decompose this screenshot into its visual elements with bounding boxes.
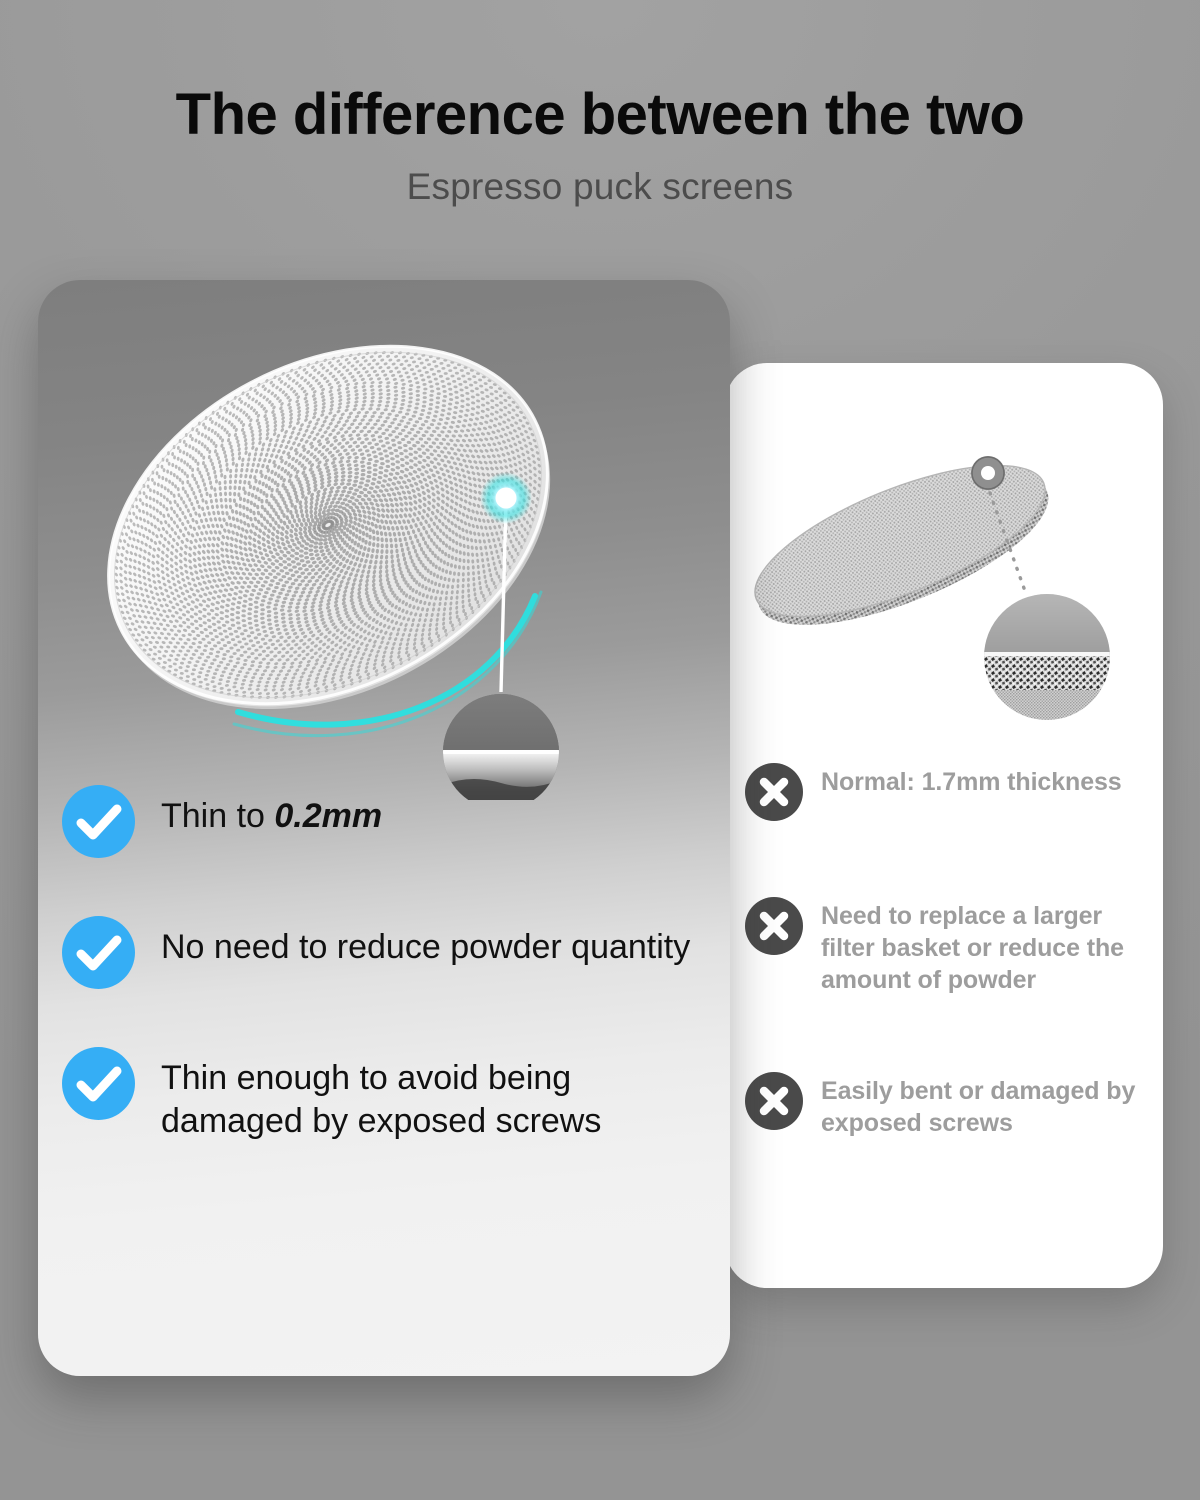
check-icon [62, 785, 135, 858]
list-item-label: No need to reduce powder quantity [161, 916, 690, 969]
cross-section-callout-thick [984, 594, 1110, 720]
glow-marker-dot [480, 472, 532, 524]
normal-feature-list: Normal: 1.7mm thickness Need to replace … [745, 763, 1163, 1215]
thin-thickness-value: 0.2mm [274, 797, 382, 835]
list-item-label: Easily bent or damaged by exposed screws [821, 1072, 1141, 1139]
page-header: The difference between the two Espresso … [0, 0, 1200, 208]
thin-thickness-prefix: Thin to [161, 797, 274, 835]
thin-feature-list: Thin to 0.2mm No need to reduce powder q… [62, 785, 730, 1201]
thin-screen-illustration [38, 280, 730, 800]
center-hole-marker [971, 456, 1005, 490]
thick-mesh-disc-svg [725, 363, 1163, 783]
cross-icon [745, 763, 803, 821]
thin-spiral-disc-svg [38, 280, 730, 800]
cross-icon [745, 897, 803, 955]
comparison-panel-normal: Normal: 1.7mm thickness Need to replace … [725, 363, 1163, 1288]
normal-thickness-value: 1.7mm [922, 768, 1001, 796]
normal-thickness-suffix: thickness [1000, 768, 1121, 796]
list-item: No need to reduce powder quantity [62, 916, 730, 989]
list-item: Normal: 1.7mm thickness [745, 763, 1163, 821]
list-item: Thin enough to avoid being damaged by ex… [62, 1047, 730, 1143]
check-icon [62, 1047, 135, 1120]
check-icon [62, 916, 135, 989]
list-item-label: Thin enough to avoid being damaged by ex… [161, 1047, 721, 1143]
normal-thickness-prefix: Normal: [821, 768, 922, 796]
page-title: The difference between the two [0, 86, 1200, 144]
list-item-label: Thin to 0.2mm [161, 785, 382, 838]
list-item: Thin to 0.2mm [62, 785, 730, 858]
list-item: Easily bent or damaged by exposed screws [745, 1072, 1163, 1139]
list-item-label: Need to replace a larger filter basket o… [821, 897, 1141, 996]
list-item: Need to replace a larger filter basket o… [745, 897, 1163, 996]
normal-screen-illustration [725, 363, 1163, 783]
list-item-label: Normal: 1.7mm thickness [821, 763, 1122, 798]
comparison-panel-thin: Thin to 0.2mm No need to reduce powder q… [38, 280, 730, 1376]
cross-icon [745, 1072, 803, 1130]
page-subtitle: Espresso puck screens [0, 166, 1200, 208]
